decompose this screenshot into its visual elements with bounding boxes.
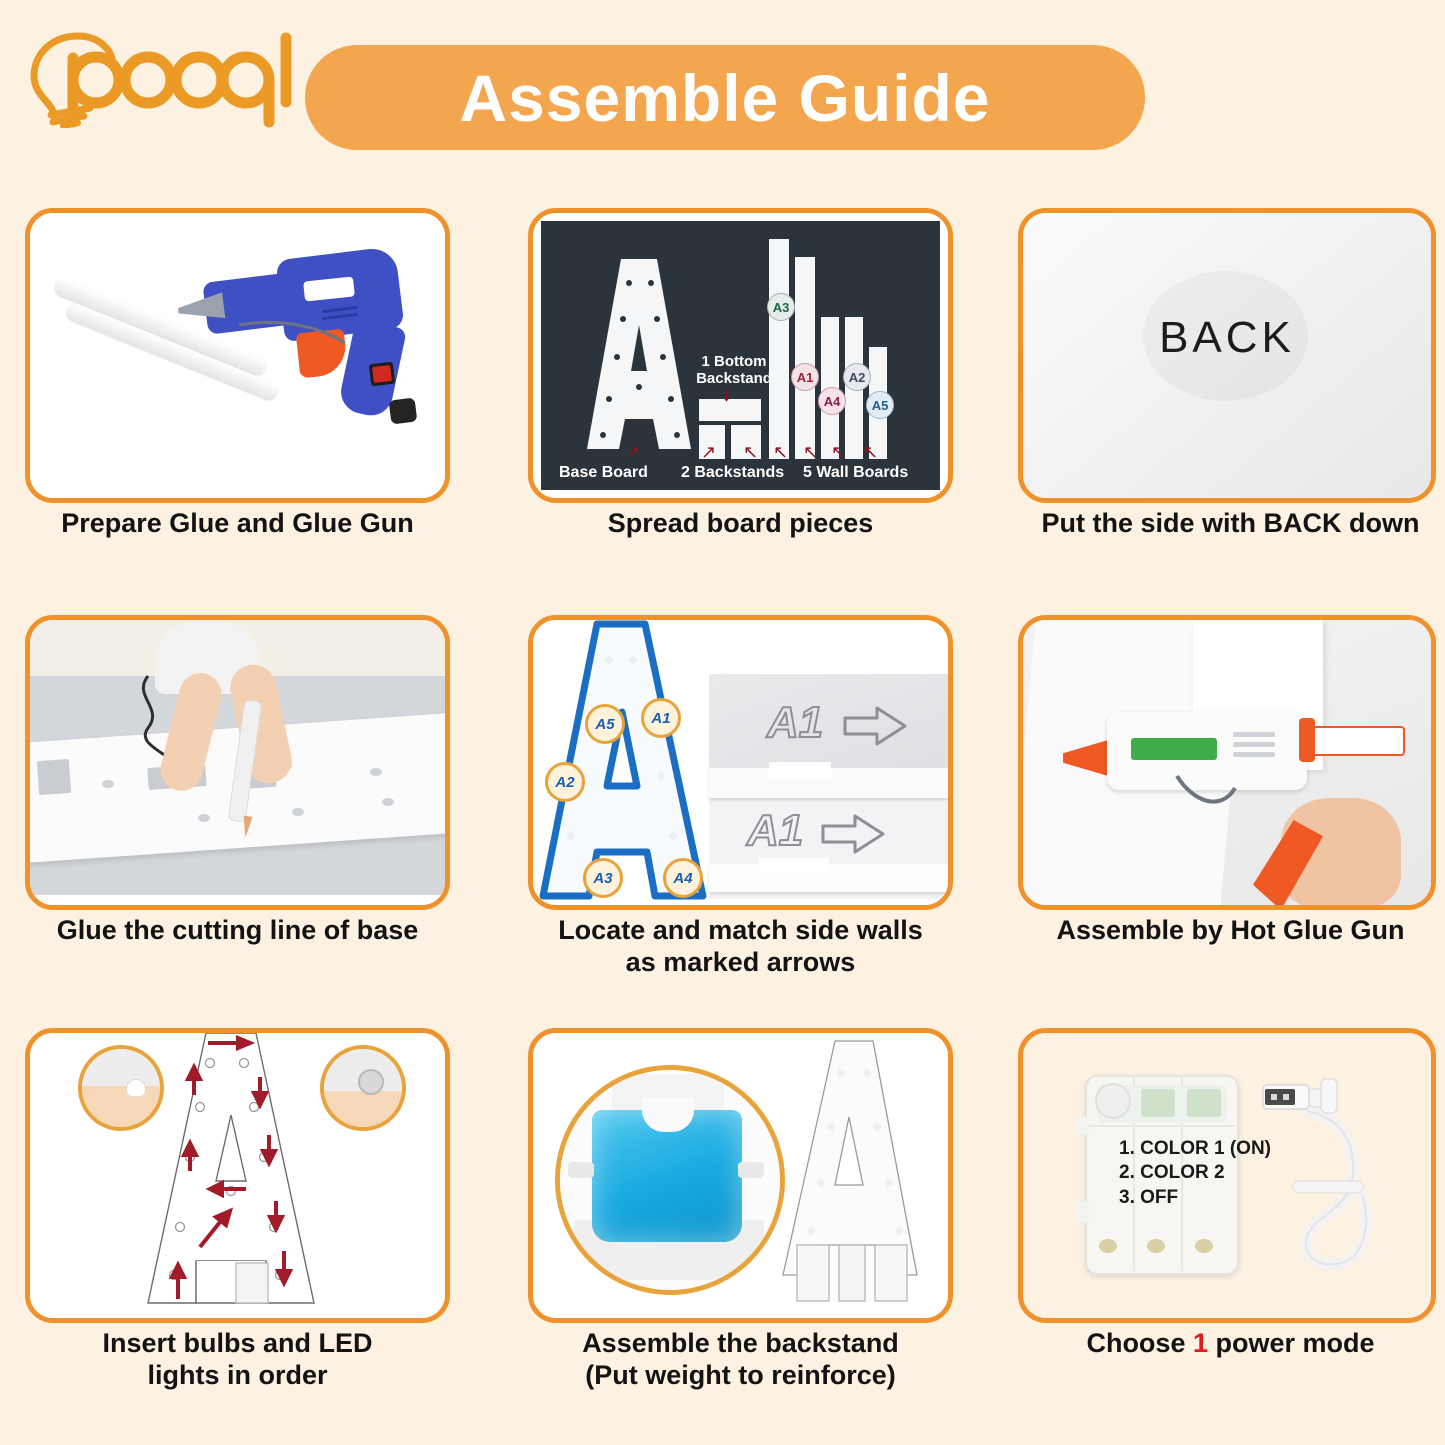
bulb-hole: [382, 798, 394, 806]
glue-stick: [1305, 726, 1405, 756]
wall-marker-a3: A3: [583, 858, 623, 898]
pointer-arrow: ↗: [701, 443, 716, 461]
backstand-tab-left: [568, 1162, 594, 1178]
page-title-banner: Assemble Guide: [305, 45, 1145, 150]
board-marker-a5: A5: [866, 391, 894, 419]
diagram-backdrop: A3 A1 A2 A4 A5 1 Bottom Backstand ↓ Base…: [541, 221, 940, 490]
step-4: Glue the cutting line of base: [25, 615, 450, 995]
letter-a-standing: [777, 1039, 937, 1311]
step-3-caption: Put the side with BACK down: [1018, 508, 1443, 540]
glue-gun-and-glue-sticks-photo: [30, 213, 445, 498]
assemble-guide-page: pooqla Assemble Guide: [0, 0, 1445, 1445]
pointer-arrow: ↗: [625, 443, 640, 461]
pointer-arrow: ↖: [863, 443, 878, 461]
arrow-tag-a1-bottom: A1: [747, 806, 803, 856]
step-7-caption-line1: Insert bulbs and LED: [25, 1328, 450, 1360]
step-8-caption-line1: Assemble the backstand: [528, 1328, 953, 1360]
step-3-image-card: BACK: [1018, 208, 1436, 503]
pointer-arrow: ↖: [803, 443, 818, 461]
glue-gun-cable-cap: [389, 398, 418, 425]
step-2-caption: Spread board pieces: [528, 508, 953, 540]
steps-grid: Prepare Glue and Glue Gun: [0, 190, 1445, 1445]
step-6-image-card: [1018, 615, 1436, 910]
label-base-board: Base Board: [559, 464, 648, 482]
page-title: Assemble Guide: [459, 60, 990, 136]
water-bag-inset-photo: [555, 1065, 785, 1295]
step-6: Assemble by Hot Glue Gun: [1018, 615, 1443, 995]
bulb-icon: [126, 1079, 146, 1097]
battery-box-divider: [1085, 1125, 1235, 1127]
right-arrow-icon: [843, 704, 909, 748]
backstand-with-water-bag-photo: [533, 1033, 948, 1318]
step-9-caption-number: 1: [1193, 1328, 1208, 1358]
step-7-image-card: [25, 1028, 450, 1323]
wall-board-notch: [759, 858, 829, 872]
step-7: Insert bulbs and LED lights in order: [25, 1028, 450, 1428]
bulb-hole: [292, 808, 304, 816]
step-6-caption: Assemble by Hot Glue Gun: [1018, 915, 1443, 947]
inset-hand: [82, 1086, 160, 1127]
wall-marker-a2: A2: [545, 762, 585, 802]
step-2: A3 A1 A2 A4 A5 1 Bottom Backstand ↓ Base…: [528, 208, 953, 578]
circuit-board: [1141, 1089, 1175, 1117]
board-marker-a3: A3: [767, 293, 795, 321]
hot-glue-gun-in-use-photo: [1023, 620, 1431, 905]
base-board-letter-a: [579, 259, 699, 464]
glue-gun-vent: [1233, 732, 1275, 737]
board-marker-a1: A1: [791, 363, 819, 391]
page-header: pooqla Assemble Guide: [0, 0, 1445, 190]
glue-gun-vent: [1233, 752, 1275, 757]
step-5: A5 A1 A2 A3 A4 A1 A1: [528, 615, 953, 995]
inset-background: [82, 1049, 160, 1090]
led-socket-icon: [358, 1069, 384, 1095]
brand-logo: pooqla: [18, 18, 293, 128]
step-9: 1. COLOR 1 (ON) 2. COLOR 2 3. OFF: [1018, 1028, 1443, 1428]
led-screw-inset-photo: [320, 1045, 406, 1131]
bulb-hole: [198, 814, 210, 822]
step-4-image-card: [25, 615, 450, 910]
step-9-caption: Choose 1 power mode: [1018, 1328, 1443, 1360]
arrow-bottom-backstand: ↓: [721, 383, 732, 405]
step-5-caption-line1: Locate and match side walls: [528, 915, 953, 947]
side-wall-matching-diagram: A5 A1 A2 A3 A4 A1 A1: [533, 620, 948, 905]
usb-cable: [1259, 1077, 1419, 1287]
glue-gun-vent: [1233, 742, 1275, 747]
board-pieces-layout-diagram: A3 A1 A2 A4 A5 1 Bottom Backstand ↓ Base…: [533, 213, 948, 498]
step-4-caption: Glue the cutting line of base: [25, 915, 450, 947]
step-3: BACK Put the side with BACK down: [1018, 208, 1443, 578]
battery-box-latch: [1075, 1201, 1089, 1223]
glue-gun-power-switch: [369, 362, 396, 387]
inset-hand: [324, 1091, 402, 1127]
power-mode-option-3: 3. OFF: [1119, 1186, 1271, 1210]
battery-contact: [1099, 1239, 1117, 1253]
wall-marker-a4: A4: [663, 858, 703, 898]
label-bottom-backstand: 1 Bottom Backstand: [689, 353, 779, 388]
wall-board-a3: [769, 239, 789, 459]
board-marker-a4: A4: [818, 387, 846, 415]
wall-marker-a1: A1: [641, 698, 681, 738]
power-mode-option-1: 1. COLOR 1 (ON): [1119, 1137, 1271, 1161]
step-9-caption-prefix: Choose: [1086, 1328, 1193, 1358]
label-2-backstands: 2 Backstands: [681, 464, 784, 482]
back-label-text: BACK: [1023, 313, 1431, 363]
glue-gun-trigger-wire: [1173, 772, 1253, 832]
pointer-arrow: ↖: [743, 443, 758, 461]
pointer-arrow: ↖: [831, 443, 846, 461]
battery-box-latch: [1075, 1117, 1089, 1135]
step-1-caption: Prepare Glue and Glue Gun: [25, 508, 450, 540]
insertion-order-arrows: [138, 1033, 338, 1316]
step-7-caption-line2: lights in order: [25, 1360, 450, 1392]
wall-board-notch: [769, 762, 831, 778]
backstand-tab-right: [738, 1162, 764, 1178]
glue-gun-rear-collar: [1299, 718, 1315, 762]
wall-board-a1: [795, 257, 815, 459]
circuit-board: [1187, 1089, 1221, 1117]
step-5-caption-line2: as marked arrows: [528, 947, 953, 979]
lightbulb-icon: [18, 18, 293, 128]
back-side-panel-photo: BACK: [1023, 213, 1431, 498]
bulb-hole: [102, 780, 114, 788]
battery-box-and-usb-cable-photo: 1. COLOR 1 (ON) 2. COLOR 2 3. OFF: [1023, 1033, 1431, 1318]
step-9-image-card: 1. COLOR 1 (ON) 2. COLOR 2 3. OFF: [1018, 1028, 1436, 1323]
step-1-image-card: [25, 208, 450, 503]
step-9-caption-suffix: power mode: [1208, 1328, 1375, 1358]
glue-gun-brand-badge: [1131, 738, 1217, 760]
step-2-image-card: A3 A1 A2 A4 A5 1 Bottom Backstand ↓ Base…: [528, 208, 953, 503]
step-5-image-card: A5 A1 A2 A3 A4 A1 A1: [528, 615, 953, 910]
power-mode-option-2: 2. COLOR 2: [1119, 1161, 1271, 1185]
step-8-caption-line2: (Put weight to reinforce): [528, 1360, 953, 1392]
arrow-tag-a1-top: A1: [767, 698, 823, 748]
bulb-insert-inset-photo: [78, 1045, 164, 1131]
step-8-image-card: [528, 1028, 953, 1323]
glue-gun-wire-guard: [235, 317, 355, 357]
board-slot: [37, 759, 71, 795]
label-5-wall-boards: 5 Wall Boards: [803, 464, 908, 482]
power-mode-list: 1. COLOR 1 (ON) 2. COLOR 2 3. OFF: [1119, 1137, 1271, 1210]
bulb-insertion-order-diagram: [30, 1033, 445, 1318]
step-8: Assemble the backstand (Put weight to re…: [528, 1028, 953, 1428]
gluing-base-board-photo: [30, 620, 445, 905]
battery-contact: [1195, 1239, 1213, 1253]
power-button-knob: [1095, 1083, 1131, 1119]
right-arrow-icon: [821, 812, 887, 856]
wall-marker-a5: A5: [585, 704, 625, 744]
step-1: Prepare Glue and Glue Gun: [25, 208, 450, 578]
board-marker-a2: A2: [843, 363, 871, 391]
bulb-hole: [370, 768, 382, 776]
pointer-arrow: ↖: [773, 443, 788, 461]
battery-contact: [1147, 1239, 1165, 1253]
